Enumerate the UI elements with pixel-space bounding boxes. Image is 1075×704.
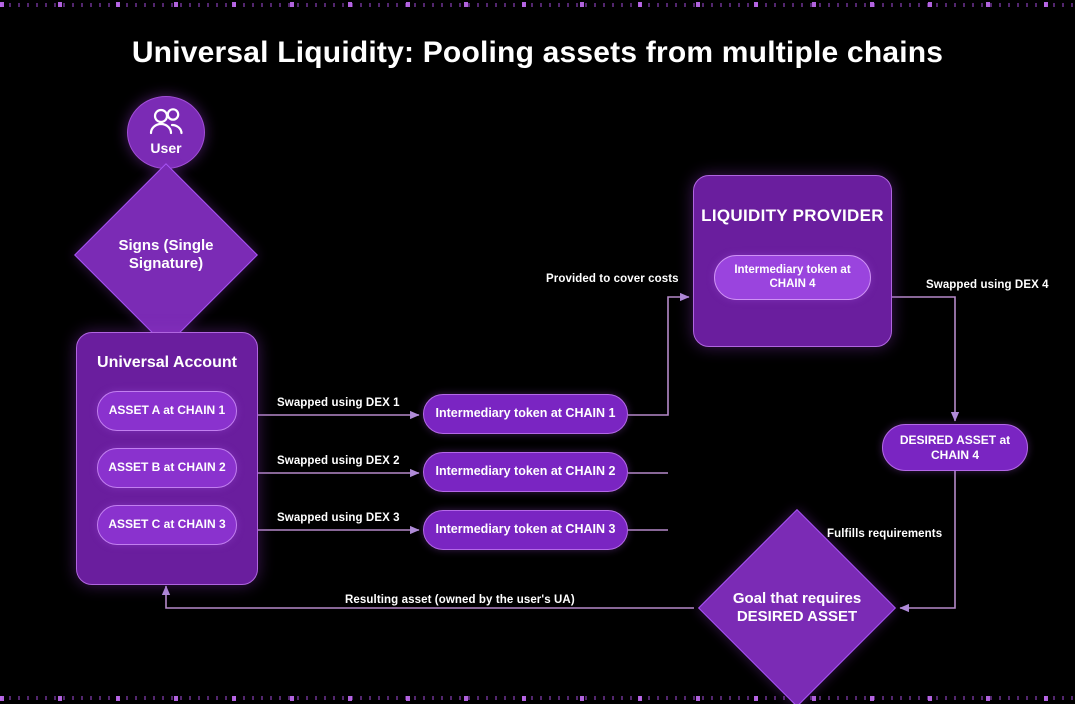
diagram-canvas: Universal Liquidity: Pooling assets from…	[0, 0, 1075, 704]
goal-line2: DESIRED ASSET	[737, 608, 857, 625]
intermediary-token-2-label: Intermediary token at CHAIN 2	[436, 464, 616, 479]
users-icon	[146, 108, 186, 142]
edge-label-dex-2: Swapped using DEX 2	[277, 455, 400, 467]
node-intermediary-token-3[interactable]: Intermediary token at CHAIN 3	[423, 510, 628, 550]
node-user[interactable]: User	[127, 96, 205, 169]
pill-asset-a[interactable]: ASSET A at CHAIN 1	[97, 391, 237, 431]
node-universal-account[interactable]: Universal Account ASSET A at CHAIN 1 ASS…	[76, 332, 258, 585]
link-lp-to-desired-asset	[892, 297, 955, 421]
goal-line1: Goal that requires	[733, 590, 861, 607]
lp-token-line1: Intermediary token at	[734, 264, 850, 276]
universal-account-title: Universal Account	[97, 353, 237, 373]
pill-asset-c[interactable]: ASSET C at CHAIN 3	[97, 505, 237, 545]
edge-label-resulting-asset: Resulting asset (owned by the user's UA)	[345, 594, 575, 606]
desired-asset-line1: DESIRED ASSET at	[900, 433, 1010, 447]
pill-lp-intermediary-token[interactable]: Intermediary token at CHAIN 4	[714, 255, 871, 300]
pill-asset-b[interactable]: ASSET B at CHAIN 2	[97, 448, 237, 488]
node-intermediary-token-2[interactable]: Intermediary token at CHAIN 2	[423, 452, 628, 492]
lp-token-line2: CHAIN 4	[769, 278, 815, 290]
pill-asset-c-label: ASSET C at CHAIN 3	[108, 517, 225, 532]
node-signs-label: Signs (Single Signature)	[77, 190, 255, 320]
desired-asset-line2: CHAIN 4	[931, 448, 979, 462]
edge-label-provided-to-cover-costs: Provided to cover costs	[546, 273, 679, 285]
intermediary-token-1-label: Intermediary token at CHAIN 1	[436, 406, 616, 421]
node-goal-diamond[interactable]: Goal that requires DESIRED ASSET	[727, 538, 867, 678]
edge-label-dex-3: Swapped using DEX 3	[277, 512, 400, 524]
node-liquidity-provider[interactable]: LIQUIDITY PROVIDER Intermediary token at…	[693, 175, 892, 347]
intermediary-token-3-label: Intermediary token at CHAIN 3	[436, 522, 616, 537]
node-goal-label: Goal that requires DESIRED ASSET	[692, 538, 902, 678]
node-user-label: User	[150, 140, 181, 157]
pill-asset-a-label: ASSET A at CHAIN 1	[109, 403, 225, 418]
edge-label-dex-1: Swapped using DEX 1	[277, 397, 400, 409]
pill-asset-b-label: ASSET B at CHAIN 2	[108, 460, 225, 475]
node-desired-asset[interactable]: DESIRED ASSET at CHAIN 4	[882, 424, 1028, 471]
liquidity-provider-title: LIQUIDITY PROVIDER	[701, 206, 884, 227]
link-tokens-to-lp	[628, 297, 689, 415]
node-intermediary-token-1[interactable]: Intermediary token at CHAIN 1	[423, 394, 628, 434]
node-signs-diamond[interactable]: Signs (Single Signature)	[101, 190, 231, 320]
edge-label-dex-4: Swapped using DEX 4	[926, 279, 1049, 291]
